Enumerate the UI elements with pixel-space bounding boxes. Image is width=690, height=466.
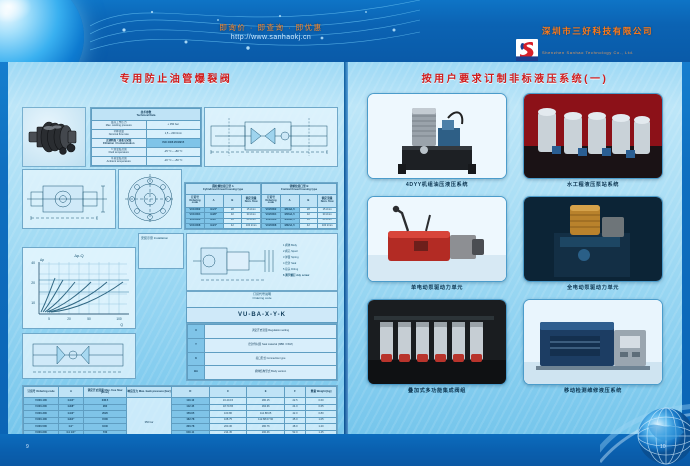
product-photo-5 [367, 299, 507, 385]
install-note-title: 安装示意 Installation [139, 234, 183, 242]
hose-burst-valve-photo [22, 107, 86, 167]
spec-label-en: Ambient temperature [107, 160, 131, 163]
product-caption-2: 水工程液压泵站系统 [567, 181, 619, 188]
install-note-box: 安装示意 Installation [138, 233, 184, 269]
product-caption-4: 全电动泵驱动力单元 [567, 284, 619, 291]
y-tick: 10 [31, 301, 35, 305]
spec-value: ≤ 350 bar [146, 121, 201, 130]
col-header: 调定开启流量 Max. free flow [l/min] [84, 387, 127, 398]
product-cell-4[interactable]: 全电动泵驱动力单元 [521, 196, 665, 291]
chart-caption: Δp-Q [74, 253, 83, 258]
col-header: D [172, 387, 210, 398]
col-header: 订货号 Ordering code [262, 195, 281, 208]
spec-value: 1,5 ~ 200 l/min [146, 130, 201, 139]
col-header: 额定流量 Nom. flow [242, 195, 261, 208]
s-mark-logo-icon [516, 39, 538, 61]
table-row: VU20008M22x1,542100 l/min [262, 223, 337, 228]
legend-row: Y密封件材质 Seal material (NBR / FKM) [188, 338, 337, 352]
valve-section-drawing [204, 107, 338, 167]
x-axis-label: Q [120, 323, 123, 327]
product-cell-6[interactable]: 移动检测维修液压系统 [521, 299, 665, 394]
callout: 2 阀芯 Spool [283, 249, 298, 253]
product-photo-3 [367, 196, 507, 282]
valve-schematic: 1 阀体 Body 2 阀芯 Spool 3 弹簧 Spring 4 密封 Se… [186, 233, 338, 291]
col-header: 重量 Weight [kg] [306, 387, 337, 398]
dimension-table: 订货号 Ordering code A 调定开启流量 Max. free flo… [22, 385, 338, 434]
right-page: 按用户要求订制非标液压系统(一) [348, 62, 682, 434]
x-tick: 5 [48, 317, 50, 321]
spec-table: 技术参数 Technical Data 最高工作压力Max. working p… [90, 107, 202, 167]
right-page-title: 按用户要求订制非标液压系统(一) [348, 70, 682, 85]
company-name-cn: 深圳市三好科技有限公司 [542, 26, 653, 36]
spec-label-en: Max. working pressure [106, 124, 132, 127]
company-logo[interactable]: 深圳市三好科技有限公司 Shenzhen Sanhao Technology C… [516, 20, 653, 62]
product-cell-1[interactable]: 4DYY机组油压液压系统 [365, 93, 509, 188]
pressure-flow-chart: Δp-Q [22, 247, 136, 329]
col-header: 额定流量 Nom. flow [318, 195, 337, 208]
callout: 5 接头 Fitting [283, 267, 299, 271]
spec-value: -25 °C ~ +80 °C [146, 148, 201, 157]
col-header: 响应压力 Max. back pressure [bar] [127, 387, 172, 398]
page-number-right: 10 [660, 444, 666, 450]
page-header: 即询价 · 即查询 · 即优惠 http://www.sanhaokj.cn 深… [0, 0, 690, 62]
legend-row: K接口形式 Connection type [188, 352, 337, 366]
back-pressure-merged: 350 bar [127, 398, 172, 434]
slogan-text: 即询价 · 即查询 · 即优惠 [196, 22, 346, 33]
glass-sphere-icon [0, 0, 84, 62]
col-header: 订货号 Ordering code [186, 195, 205, 208]
order-code-legend: X调定开启流量 Regulation setting Y密封件材质 Seal m… [186, 323, 338, 381]
spec-value: -20 °C ~ +50 °C [146, 157, 201, 166]
x-tick: 100 [116, 317, 122, 321]
table-row: VU10008G3/4"42100 l/min [186, 223, 261, 228]
col-header: A [59, 387, 84, 398]
page-number-left: 9 [26, 444, 29, 450]
product-photo-6 [523, 299, 663, 385]
callout: 6 调节螺钉 Adj. screw [283, 273, 310, 277]
y-axis-label: Δp [40, 258, 44, 262]
company-name-en: Shenzhen Sanhao Technology Co., Ltd. [542, 50, 634, 55]
table-row: VU20-600G1 1/4" 730 640.11214.45 190.465… [24, 430, 337, 434]
col-header: C [209, 387, 247, 398]
product-caption-5: 叠加式多功能集成阀组 [408, 387, 466, 394]
website-url[interactable]: http://www.sanhaokj.cn [196, 33, 346, 44]
spec-label-en: Fluid temperature [109, 151, 129, 154]
product-photo-1 [367, 93, 507, 179]
valve-cross-section [22, 333, 136, 379]
callout: 3 弹簧 Spring [283, 255, 299, 259]
header-slogan: 即询价 · 即查询 · 即优惠 http://www.sanhaokj.cn [196, 22, 346, 44]
col-header: B [299, 195, 318, 208]
col-header: A [280, 195, 299, 208]
table-b-title-en: Conical thread housing type [281, 188, 317, 191]
product-caption-3: 单电动泵驱动力单元 [411, 284, 463, 291]
product-cell-2[interactable]: 水工程液压泵站系统 [521, 93, 665, 188]
product-cell-3[interactable]: 单电动泵驱动力单元 [365, 196, 509, 291]
col-header: 订货号 Ordering code [24, 387, 59, 398]
x-tick: 20 [67, 317, 71, 321]
spec-title-en: Technical Data [137, 114, 156, 117]
callout: 4 密封 Seal [283, 261, 297, 265]
col-header: B [223, 195, 242, 208]
valve-end-view [118, 169, 182, 229]
col-header: A [204, 195, 223, 208]
col-header: E [247, 387, 285, 398]
spec-value: ISO 4406 20/18/15 [146, 139, 201, 148]
left-page: 专用防止油管爆裂阀 [8, 62, 344, 434]
col-header: F [285, 387, 306, 398]
product-gallery: 4DYY机组油压液压系统 [365, 93, 665, 394]
legend-row: X调定开启流量 Regulation setting [188, 325, 337, 339]
product-photo-2 [523, 93, 663, 179]
product-caption-1: 4DYY机组油压液压系统 [406, 181, 468, 188]
spec-label-en: Filtration / Contamination [103, 142, 134, 145]
legend-row: BA阀体结构型式 Body version [188, 366, 337, 380]
product-caption-6: 移动检测维修液压系统 [564, 387, 622, 394]
callout: 1 阀体 Body [283, 243, 298, 247]
product-cell-5[interactable]: 叠加式多功能集成阀组 [365, 299, 509, 394]
valve-dimension-drawing [22, 169, 116, 229]
catalog-spread: 即询价 · 即查询 · 即优惠 http://www.sanhaokj.cn 深… [0, 0, 690, 466]
left-page-title: 专用防止油管爆裂阀 [8, 70, 344, 85]
y-tick: 20 [31, 281, 35, 285]
page-footer [0, 434, 690, 466]
table-a-title-en: Cylindrical thread housing type [203, 188, 243, 191]
ordering-table-a: 圆柱螺纹接口型 A Cylindrical thread housing typ… [184, 182, 262, 230]
y-tick: 40 [31, 261, 35, 265]
order-code-title-en: Ordering code [252, 296, 271, 300]
product-photo-4 [523, 196, 663, 282]
x-tick: 50 [87, 317, 91, 321]
spec-label-en: Nominal flow rate [109, 133, 129, 136]
ordering-table-b: 锥螺纹接口型 B Conical thread housing type 订货号… [260, 182, 338, 230]
order-code-value: VU-BA-X-Y-K [186, 307, 338, 323]
globe-network-icon [600, 396, 690, 466]
